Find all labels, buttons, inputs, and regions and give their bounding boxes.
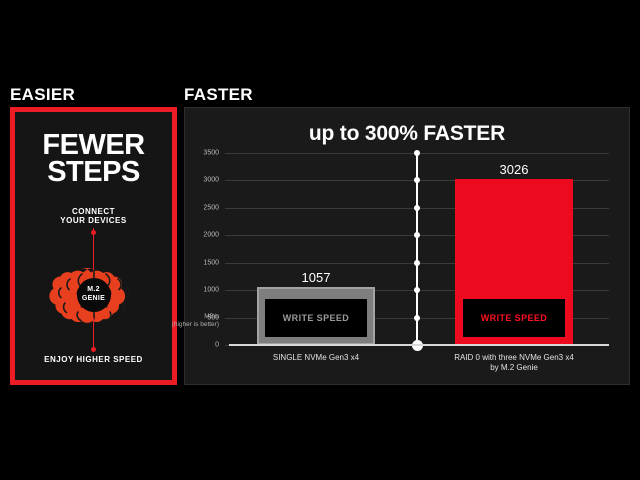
marker-dot-1500	[414, 260, 420, 266]
y-tick-label-0: 0	[215, 342, 219, 349]
chart-title: up to 300% FASTER	[185, 122, 629, 146]
y-tick-label-3500: 3500	[203, 150, 219, 157]
category-raid-line1: RAID 0 with three NVMe Gen3 x4	[419, 353, 609, 363]
fewer-steps-line1: FEWER	[15, 132, 172, 159]
y-tick-label-1500: 1500	[203, 259, 219, 266]
fewer-steps-title: FEWER STEPS	[15, 132, 172, 185]
section-heading-easier: EASIER	[10, 86, 75, 103]
y-axis-note: (higher is better)	[172, 321, 219, 329]
bar-label-write-speed-raid: WRITE SPEED	[463, 299, 565, 337]
category-raid-line2: by M.2 Genie	[419, 363, 609, 373]
y-axis-caption: MB/s (higher is better)	[172, 313, 219, 330]
category-label-single: SINGLE NVMe Gen3 x4	[221, 353, 411, 363]
marker-dot-3500	[414, 150, 420, 156]
genie-badge-line1: M.2	[87, 286, 100, 295]
marker-dot-500	[414, 315, 420, 321]
category-label-raid: RAID 0 with three NVMe Gen3 x4 by M.2 Ge…	[419, 353, 609, 374]
marker-dot-2000	[414, 232, 420, 238]
bar-value-single: 1057	[257, 270, 375, 285]
easier-panel: FEWER STEPS CONNECT YOUR DEVICES M.2 GEN…	[10, 107, 177, 385]
chart-plot-area: 3500300025002000150010005000 MB/s (highe…	[225, 153, 609, 348]
connector-dot-bottom	[91, 347, 96, 352]
bar-single-nvme: WRITE SPEED	[257, 287, 375, 345]
section-heading-faster: FASTER	[184, 86, 253, 103]
m2-genie-badge: M.2 GENIE	[77, 278, 111, 312]
marker-dot-3000	[414, 177, 420, 183]
genie-badge-line2: GENIE	[82, 295, 105, 304]
caption-enjoy-higher-speed: ENJOY HIGHER SPEED	[15, 355, 172, 364]
caption-connect-your-devices: CONNECT YOUR DEVICES	[15, 207, 172, 225]
caption-connect-line2: YOUR DEVICES	[15, 216, 172, 225]
bar-value-raid: 3026	[455, 162, 573, 177]
y-tick-label-2500: 2500	[203, 204, 219, 211]
marker-dot-1000	[414, 287, 420, 293]
chart-baseline-axis	[229, 344, 609, 346]
y-axis-unit: MB/s	[172, 313, 219, 321]
caption-connect-line1: CONNECT	[15, 207, 172, 216]
brain-illustration: M.2 GENIE	[34, 264, 154, 326]
connector-line-bottom	[93, 318, 95, 350]
fewer-steps-line2: STEPS	[15, 159, 172, 186]
category-single-line1: SINGLE NVMe Gen3 x4	[221, 353, 411, 363]
bar-raid0-m2genie: WRITE SPEED	[455, 179, 573, 345]
y-tick-label-3000: 3000	[203, 177, 219, 184]
marker-dot-2500	[414, 205, 420, 211]
bar-label-write-speed-single: WRITE SPEED	[265, 299, 367, 337]
y-tick-label-1000: 1000	[203, 287, 219, 294]
faster-chart-panel: up to 300% FASTER 3500300025002000150010…	[184, 107, 630, 385]
y-tick-label-2000: 2000	[203, 232, 219, 239]
